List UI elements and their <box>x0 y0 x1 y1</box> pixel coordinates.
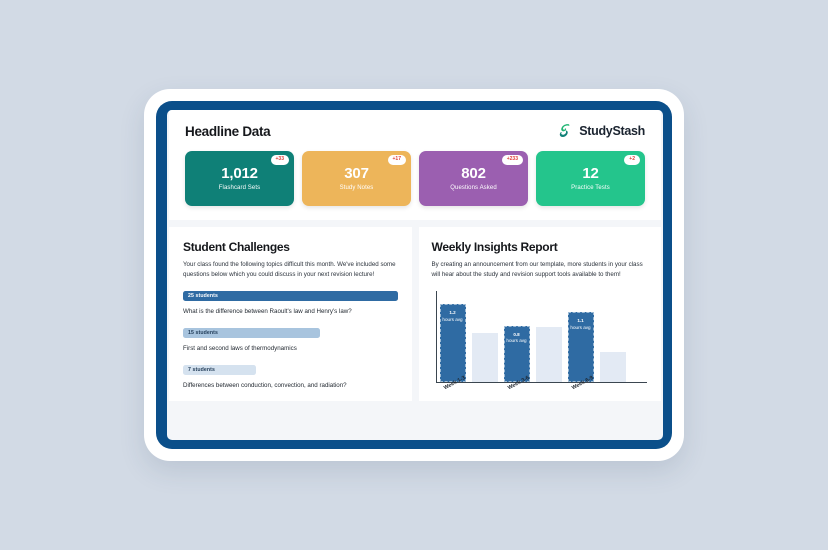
section-description-insights: By creating an announcement from our tem… <box>432 260 647 279</box>
brand-name: StudyStash <box>579 124 645 138</box>
stat-card-questions-asked[interactable]: +233 802 Questions Asked <box>419 151 528 206</box>
stat-value: 802 <box>461 166 485 182</box>
challenge-count-bar: 7 students <box>183 365 256 375</box>
challenge-count-bar: 25 students <box>183 291 398 301</box>
screenshot-stage: Headline Data StudyStash +33 1,0 <box>0 0 828 550</box>
bar-value-label: 1.2 hours avg <box>441 310 465 323</box>
challenge-count-label: 7 students <box>188 367 215 373</box>
bar-value-label: 1.1 hours avg <box>569 318 593 331</box>
section-title-challenges: Student Challenges <box>183 240 398 254</box>
stat-card-flashcard-sets[interactable]: +33 1,012 Flashcard Sets <box>185 151 294 206</box>
stat-value: 1,012 <box>221 166 258 182</box>
stat-label: Study Notes <box>340 185 374 191</box>
bar-primary-week-3-6[interactable]: 0.8 hours avg <box>504 326 530 382</box>
studystash-swirl-icon <box>556 122 574 140</box>
bar-comparison-week-1-3[interactable] <box>472 333 498 382</box>
weekly-insights-panel: Weekly Insights Report By creating an an… <box>419 227 661 401</box>
chart-x-axis: Week 1-3 Week 3-6 Week 6-9 <box>439 383 647 401</box>
bar-comparison-week-3-6[interactable] <box>536 327 562 383</box>
challenge-question: What is the difference between Raoult's … <box>183 307 398 317</box>
page-title: Headline Data <box>185 124 270 139</box>
brand-logo: StudyStash <box>556 122 645 140</box>
bar-group-week-3-6: 0.8 hours avg <box>504 291 568 382</box>
tablet-device: Headline Data StudyStash +33 1,0 <box>144 89 684 461</box>
challenge-count-label: 15 students <box>188 330 218 336</box>
list-item[interactable]: 7 students Differences between conductio… <box>183 365 398 391</box>
stat-card-study-notes[interactable]: +17 307 Study Notes <box>302 151 411 206</box>
challenge-count-label: 25 students <box>188 293 218 299</box>
weekly-hours-chart: 1.2 hours avg 0.8 <box>432 291 647 401</box>
list-item[interactable]: 25 students What is the difference betwe… <box>183 291 398 317</box>
bar-group-week-1-3: 1.2 hours avg <box>440 291 504 382</box>
bar-comparison-week-6-9[interactable] <box>600 352 626 382</box>
stat-label: Flashcard Sets <box>219 185 260 191</box>
chart-plot-area: 1.2 hours avg 0.8 <box>436 291 647 383</box>
bar-group-week-6-9: 1.1 hours avg <box>568 291 632 382</box>
list-item[interactable]: 15 students First and second laws of the… <box>183 328 398 354</box>
lower-panels: Student Challenges Your class found the … <box>169 220 661 401</box>
challenge-question: First and second laws of thermodynamics <box>183 344 398 354</box>
bar-value-label: 0.8 hours avg <box>505 332 529 345</box>
stat-value: 307 <box>344 166 368 182</box>
stat-label: Practice Tests <box>571 185 610 191</box>
status-badge: +17 <box>388 155 406 165</box>
stat-card-practice-tests[interactable]: +2 12 Practice Tests <box>536 151 645 206</box>
challenge-question: Differences between conduction, convecti… <box>183 381 398 391</box>
headline-panel: Headline Data StudyStash +33 1,0 <box>169 110 661 220</box>
section-description-challenges: Your class found the following topics di… <box>183 260 398 279</box>
tablet-bezel: Headline Data StudyStash +33 1,0 <box>156 101 672 449</box>
status-badge: +233 <box>502 155 523 165</box>
headline-header: Headline Data StudyStash <box>185 122 645 140</box>
bar-primary-week-1-3[interactable]: 1.2 hours avg <box>440 304 466 382</box>
student-challenges-panel: Student Challenges Your class found the … <box>169 227 412 401</box>
tablet-screen: Headline Data StudyStash +33 1,0 <box>167 110 663 440</box>
stat-value: 12 <box>582 166 598 182</box>
status-badge: +33 <box>271 155 289 165</box>
stat-label: Questions Asked <box>450 185 497 191</box>
bar-primary-week-6-9[interactable]: 1.1 hours avg <box>568 312 594 382</box>
status-badge: +2 <box>624 155 640 165</box>
section-title-insights: Weekly Insights Report <box>432 240 647 254</box>
challenge-count-bar: 15 students <box>183 328 320 338</box>
stat-card-grid: +33 1,012 Flashcard Sets +17 307 Study N… <box>185 151 645 206</box>
